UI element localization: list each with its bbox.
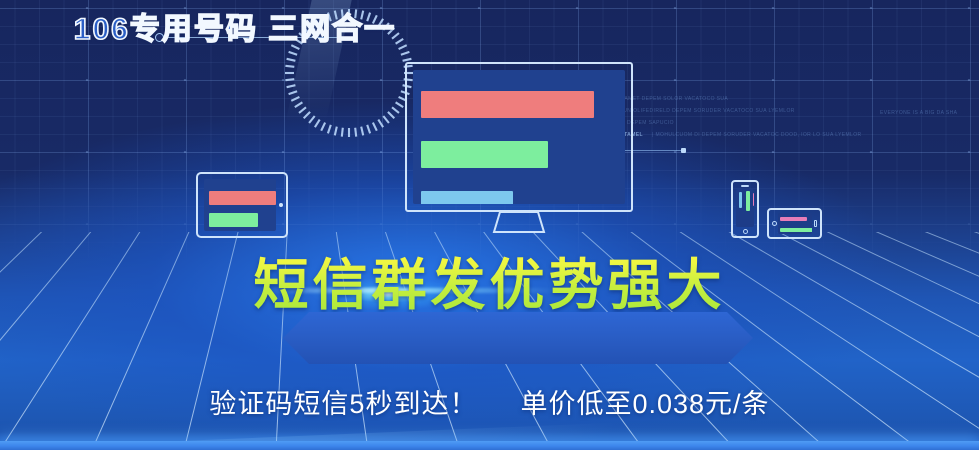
phone-vertical-screen <box>736 189 754 227</box>
chart-bar <box>209 191 276 205</box>
chart-bar <box>753 193 754 206</box>
monitor-screen <box>413 70 625 204</box>
tablet-device <box>196 172 288 238</box>
sub-banner-chevron <box>283 312 753 364</box>
tick-dot-icon <box>681 148 686 153</box>
bottom-light-strip <box>0 441 979 450</box>
background-decor-text: | MOHULCUOM DI DEPEM SORUDER VACATOC DOO… <box>652 132 862 138</box>
phone-speaker-icon <box>741 185 749 187</box>
chart-bar <box>780 228 812 232</box>
tablet-home-dot-icon <box>279 203 283 207</box>
chart-bar <box>739 192 743 208</box>
phone-horizontal-device <box>767 208 822 239</box>
phone-camera-icon <box>772 221 777 226</box>
background-decor-text: SOLO UNIOLIFEDIRELD DEPEM SORUDER VACATO… <box>606 108 795 114</box>
page-title: 短信群发优势强大 <box>0 240 979 320</box>
bottom-tagline: 验证码短信5秒到达！ 单价低至0.038元/条 <box>0 382 979 421</box>
bottom-tagline-left: 验证码短信5秒到达！ <box>209 389 477 419</box>
monitor-stand-svg <box>490 212 548 234</box>
phone-home-button-icon <box>743 229 748 234</box>
background-decor-text: EVERYONE IS A BIG DA SHA <box>880 110 957 116</box>
chart-bar <box>209 213 258 227</box>
monitor-stand <box>490 212 548 232</box>
monitor-device <box>405 62 633 212</box>
phone-vertical-device <box>731 180 759 238</box>
chart-bar <box>421 141 548 168</box>
chart-bar <box>746 191 750 211</box>
chart-bar <box>780 217 808 221</box>
promo-banner: SIT AMET DEPEM SOLOR VACATOCO SUASOLO UN… <box>0 0 979 450</box>
chart-bar <box>421 91 594 118</box>
tablet-screen <box>204 179 276 231</box>
chart-bar <box>421 191 513 204</box>
phone-horizontal-screen <box>778 213 812 234</box>
bottom-tagline-right: 单价低至0.038元/条 <box>520 389 769 419</box>
sub-banner-label: 106专用号码 三网合一 <box>0 0 470 52</box>
phone-side-speaker-icon <box>814 220 817 227</box>
